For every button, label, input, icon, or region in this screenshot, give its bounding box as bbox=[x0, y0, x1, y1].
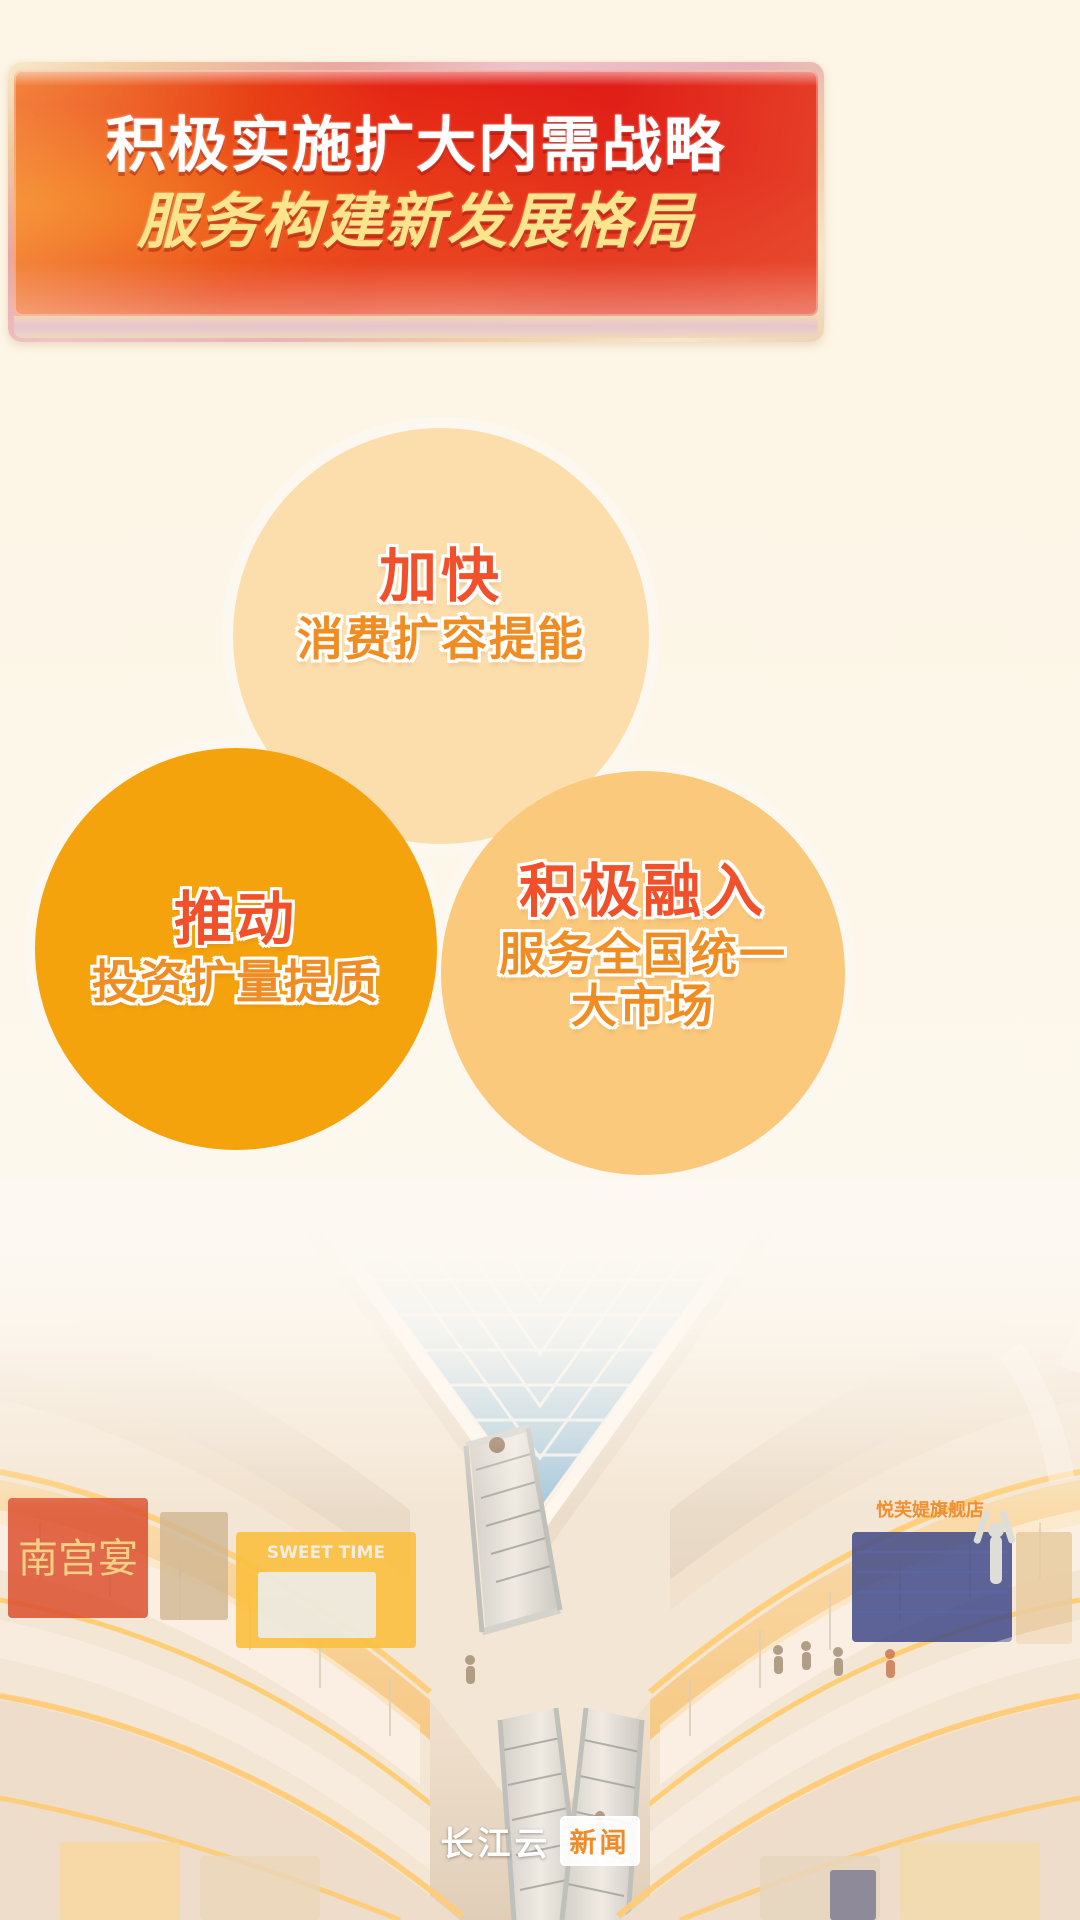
circle-left-text: 推动 投资扩量提质 bbox=[0, 888, 1080, 1007]
circle-top-title: 加快 bbox=[233, 545, 649, 608]
venn-diagram: 加快 消费扩容提能 积极融入 服务全国统一 大市场 推动 投资扩量提质 bbox=[0, 0, 1080, 1250]
poster-canvas: 积极实施扩大内需战略 服务构建新发展格局 加快 消费扩容提能 积极融入 服务全国… bbox=[0, 0, 1080, 1920]
mall-atrium-photo: 南宫宴 SWEET TIME 悦芙媞旗舰店 bbox=[0, 1180, 1080, 1920]
watermark: 长江云 新闻 bbox=[0, 1816, 1080, 1866]
circle-left-subtitle: 投资扩量提质 bbox=[35, 957, 437, 1008]
circle-left-title: 推动 bbox=[35, 888, 437, 951]
watermark-badge: 新闻 bbox=[560, 1816, 640, 1866]
watermark-brand: 长江云 bbox=[441, 1817, 552, 1865]
circle-top-text: 加快 消费扩容提能 bbox=[0, 545, 1080, 664]
circle-top-subtitle: 消费扩容提能 bbox=[233, 614, 649, 665]
mall-illustration: 南宫宴 SWEET TIME 悦芙媞旗舰店 bbox=[0, 1180, 1080, 1920]
